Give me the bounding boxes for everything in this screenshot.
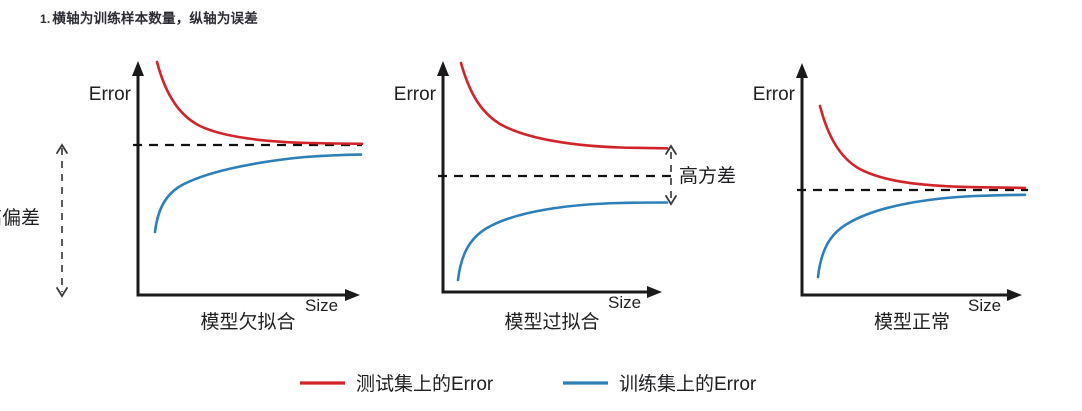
x-axis-arrowhead-panel-2	[647, 286, 662, 298]
test-error-curve-panel-3	[820, 106, 1025, 188]
x-axis-label-panel-3: Size	[968, 296, 1001, 315]
train-error-curve-panel-1	[155, 155, 361, 232]
caption-panel-1: 模型欠拟合	[200, 311, 295, 333]
caption-panel-2: 模型过拟合	[504, 311, 599, 333]
y-axis-arrowhead-panel-3	[796, 63, 808, 78]
x-axis-label-panel-1: Size	[305, 296, 338, 315]
x-axis-label-panel-2: Size	[608, 293, 641, 312]
test-error-curve-panel-2	[461, 63, 667, 148]
train-error-curve-panel-2	[458, 203, 667, 281]
train-error-curve-panel-3	[818, 195, 1025, 277]
y-axis-arrowhead-panel-2	[437, 61, 449, 76]
bias-variance-figure: 高偏差 Error Size 模型欠拟合 高方差 Error Size 模型过拟	[0, 0, 1082, 411]
y-axis-arrowhead-panel-1	[132, 61, 144, 76]
panel-normal: Error Size 模型正常	[753, 63, 1028, 333]
legend: 测试集上的Error 训练集上的Error	[300, 373, 757, 395]
legend-label-test-error: 测试集上的Error	[356, 373, 494, 395]
y-axis-label-panel-1: Error	[89, 84, 132, 105]
x-axis-arrowhead-panel-1	[345, 289, 360, 301]
high-bias-label: 高偏差	[0, 207, 40, 229]
high-variance-label: 高方差	[679, 165, 736, 187]
panel-overfitting: 高方差 Error Size 模型过拟合	[394, 61, 736, 333]
test-error-curve-panel-1	[157, 62, 362, 144]
x-axis-arrowhead-panel-3	[1007, 289, 1022, 301]
figure-page: 1.横轴为训练样本数量，纵轴为误差 高偏差 Error Size	[0, 0, 1082, 411]
y-axis-label-panel-3: Error	[753, 84, 796, 105]
y-axis-label-panel-2: Error	[394, 84, 437, 105]
panel-underfitting: 高偏差 Error Size 模型欠拟合	[0, 61, 362, 333]
legend-label-train-error: 训练集上的Error	[619, 373, 757, 395]
caption-panel-3: 模型正常	[874, 311, 950, 333]
